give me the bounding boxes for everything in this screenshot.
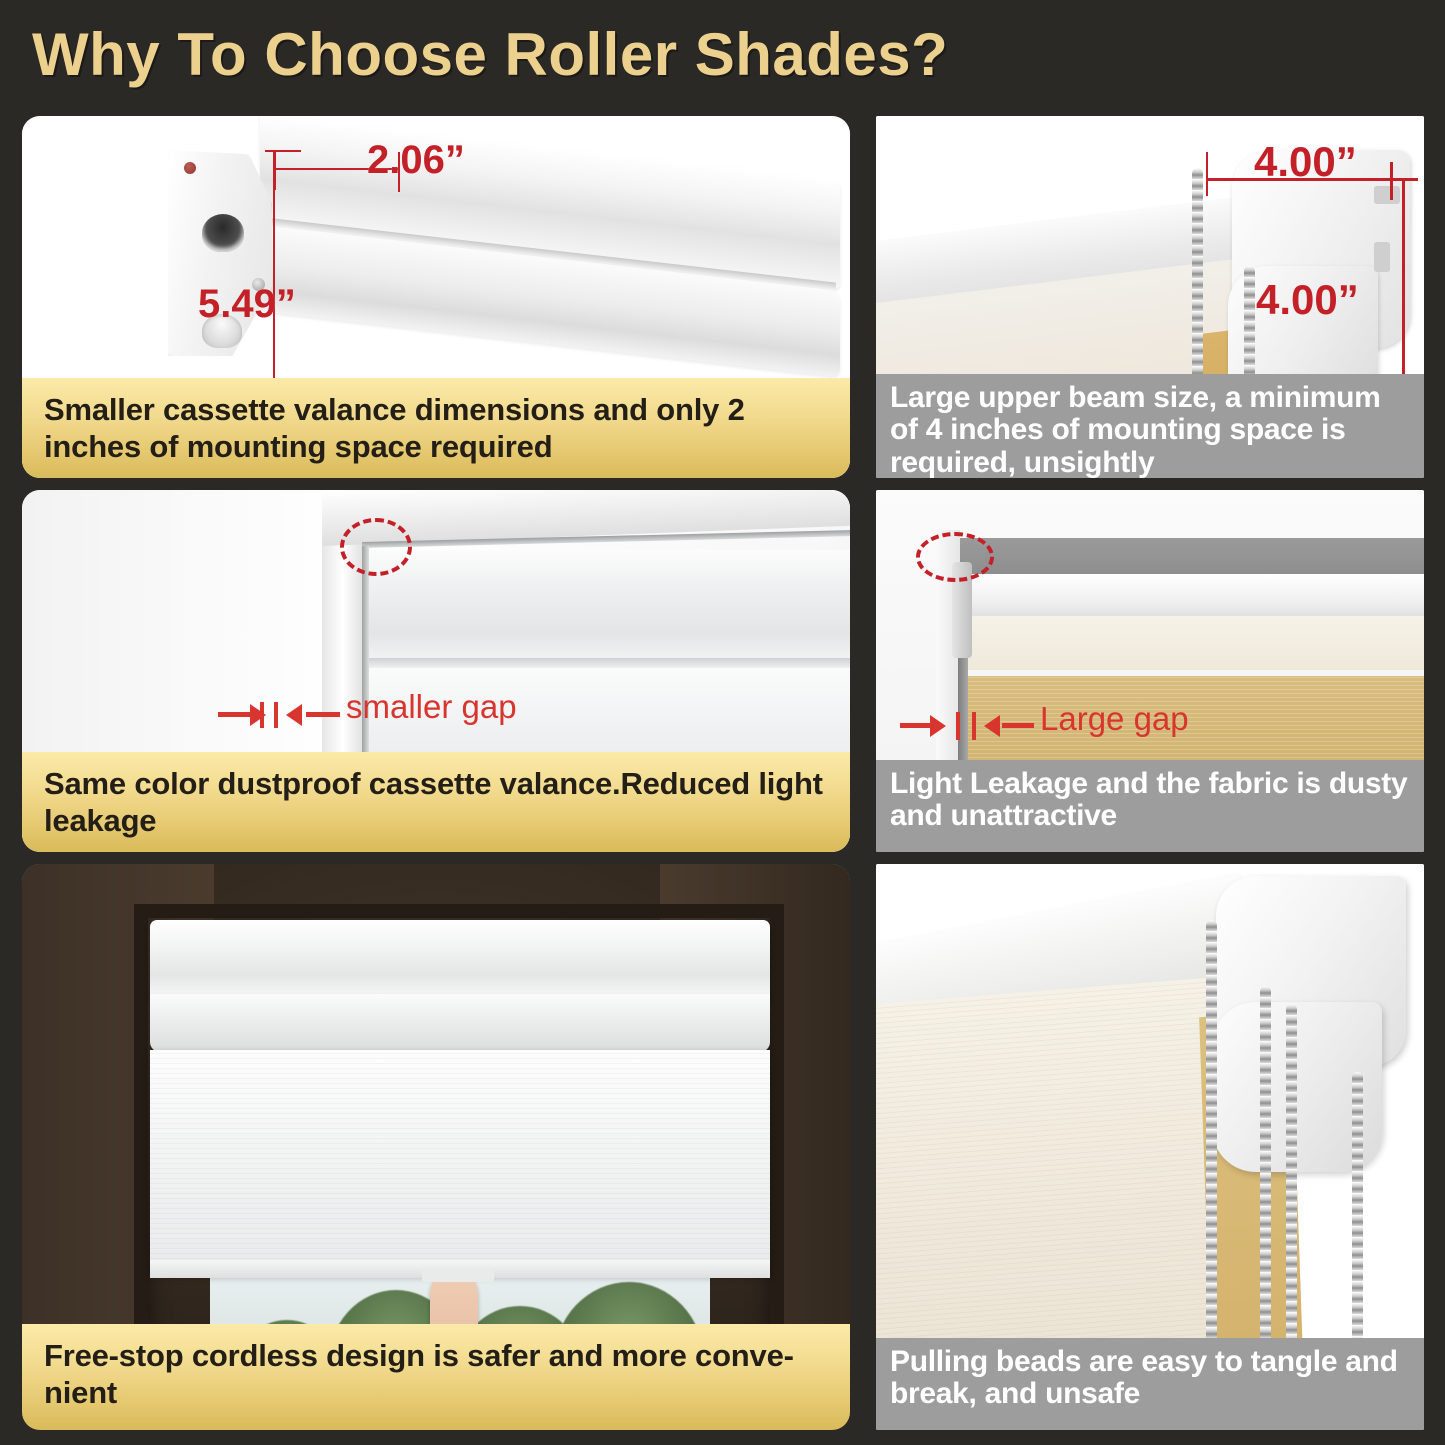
gap-arrow-head-left-icon	[930, 715, 946, 737]
panel-6-con-pulling-beads: Pulling beads are easy to tangle and bre…	[876, 864, 1424, 1430]
valance-red-screw-icon	[184, 162, 196, 174]
bead-chain-3	[1286, 1004, 1297, 1354]
highlight-circle-icon	[340, 518, 412, 576]
panel-1-caption: Smaller cassette valance dimensions and …	[22, 378, 850, 478]
cream-fabric-band	[948, 616, 1424, 670]
smaller-gap-label: smaller gap	[346, 688, 517, 726]
dim-top-tick-right	[1390, 162, 1393, 200]
bead-chain-2	[1260, 986, 1271, 1354]
bead-chain-1	[1206, 920, 1217, 1354]
panel-2-con-large-beam: 4.00” 4.00” Large upper beam size, a min…	[876, 116, 1424, 478]
upper-beam	[948, 574, 1424, 622]
panel-6-caption: Pulling beads are easy to tangle and bre…	[876, 1338, 1424, 1430]
gap-arrow-shaft-right	[306, 712, 340, 717]
highlight-circle-icon	[916, 532, 994, 582]
panel-1-pro-cassette-dimensions: 2.06” 5.49” Smaller cassette valance dim…	[22, 116, 850, 478]
panel-4-con-light-leakage: Large gap Light Leakage and the fabric i…	[876, 490, 1424, 852]
gap-arrow-shaft-right	[1002, 723, 1034, 728]
valance-spindle-hole-icon	[202, 214, 244, 252]
dim-beam-width-label: 4.00”	[1254, 138, 1357, 186]
gap-marker-right	[274, 702, 278, 728]
cassette-valance-illustration	[140, 138, 840, 388]
gap-arrow-head-right-icon	[984, 715, 1000, 737]
dim-height-tick-top	[265, 150, 301, 152]
gap-marker-left	[956, 712, 960, 740]
bracket-slot-2-icon	[1374, 242, 1390, 272]
bracket-slot-1-icon	[1374, 186, 1400, 204]
gap-marker-right	[972, 712, 976, 740]
panel-5-pro-cordless-design: Free-stop cordless design is safer and m…	[22, 864, 850, 1430]
large-gap-label: Large gap	[1040, 700, 1189, 738]
gap-arrow-head-left-icon	[250, 704, 266, 726]
panel-3-caption: Same color dustproof cassette valance.Re…	[22, 752, 850, 852]
gap-arrow-head-right-icon	[286, 704, 302, 726]
panel-3-pro-dustproof-valance: smaller gap Same color dustproof cassett…	[22, 490, 850, 852]
shade-roll	[150, 994, 770, 1052]
dim-width-label: 2.06”	[367, 138, 465, 183]
shade-pull-tab	[422, 1268, 494, 1282]
gap-arrow-shaft-left	[218, 712, 252, 717]
dim-top-tick-left	[1206, 152, 1208, 196]
gap-arrow-shaft-left	[900, 723, 932, 728]
bead-chain-4	[1352, 1072, 1363, 1354]
panel-5-caption: Free-stop cordless design is safer and m…	[22, 1324, 850, 1430]
shade-valance-face	[366, 550, 850, 662]
dim-height-label: 5.49”	[198, 282, 296, 327]
panel-4-caption: Light Leakage and the fabric is dusty an…	[876, 760, 1424, 852]
comparison-grid: 2.06” 5.49” Smaller cassette valance dim…	[0, 108, 1445, 1445]
shade-fabric	[150, 1050, 770, 1274]
cassette-valance	[150, 920, 770, 998]
panel-2-caption: Large upper beam size, a minimum of 4 in…	[876, 374, 1424, 478]
dim-side-tick-top	[1378, 178, 1418, 181]
page-title: Why To Choose Roller Shades?	[32, 20, 948, 89]
dim-beam-height-label: 4.00”	[1256, 276, 1359, 324]
header-bar: Why To Choose Roller Shades?	[0, 0, 1445, 108]
